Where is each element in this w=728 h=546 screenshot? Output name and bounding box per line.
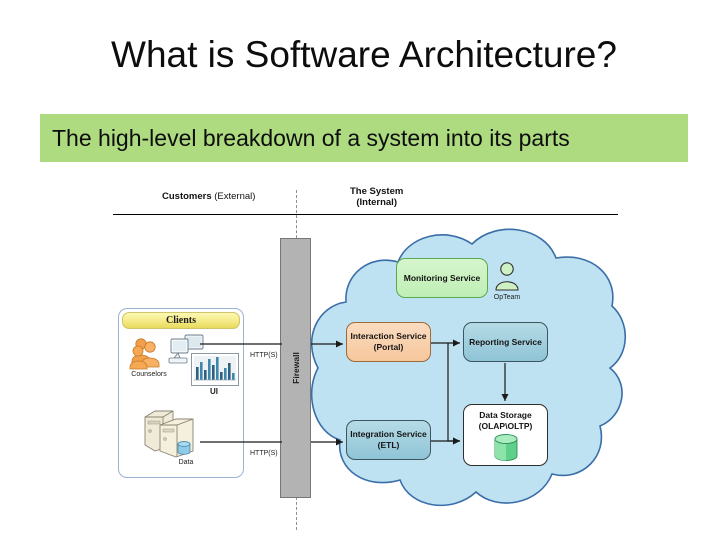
op-team-icon <box>494 260 520 294</box>
zone-label-internal: The System (Internal) <box>350 186 403 208</box>
clients-header-label: Clients <box>166 315 196 326</box>
http-label-top: HTTP(S) <box>250 352 278 359</box>
firewall-bar: Firewall <box>280 238 311 498</box>
database-cylinder-icon <box>491 434 521 462</box>
service-reporting[interactable]: Reporting Service <box>463 322 548 362</box>
clients-header: Clients <box>122 312 240 329</box>
ui-chart-icon <box>191 353 239 386</box>
clients-container: Clients Counselors <box>118 308 244 478</box>
service-interaction-line2: (Portal) <box>350 342 426 353</box>
service-monitoring[interactable]: Monitoring Service <box>396 258 488 298</box>
service-interaction-line1: Interaction Service <box>350 331 426 342</box>
ui-label: UI <box>199 387 229 396</box>
firewall-label: Firewall <box>291 352 301 384</box>
counselors-icon <box>129 337 169 371</box>
data-storage-line1: Data Storage <box>479 410 531 421</box>
page-title: What is Software Architecture? <box>0 34 728 76</box>
service-integration-line2: (ETL) <box>350 440 427 451</box>
data-label: Data <box>171 459 201 466</box>
zone-label-internal-line1: The System <box>350 186 403 197</box>
http-label-bottom: HTTP(S) <box>250 450 278 457</box>
service-data-storage[interactable]: Data Storage (OLAP\OLTP) <box>463 404 548 466</box>
service-monitoring-label: Monitoring Service <box>404 273 481 284</box>
zone-label-internal-line2: (Internal) <box>350 197 403 208</box>
subtitle-banner: The high-level breakdown of a system int… <box>40 114 688 162</box>
zone-label-external-rest: (External) <box>212 191 256 202</box>
zone-label-external: Customers (External) <box>162 191 255 202</box>
service-integration-line1: Integration Service <box>350 429 427 440</box>
zone-label-external-bold: Customers <box>162 191 212 202</box>
subtitle-text: The high-level breakdown of a system int… <box>52 125 570 152</box>
service-interaction[interactable]: Interaction Service (Portal) <box>346 322 431 362</box>
data-storage-line2: (OLAP\OLTP) <box>479 421 533 432</box>
architecture-diagram: Customers (External) The System (Interna… <box>100 182 628 534</box>
service-integration[interactable]: Integration Service (ETL) <box>346 420 431 460</box>
op-team-label: OpTeam <box>488 294 526 301</box>
zone-divider-horizontal <box>113 214 618 215</box>
data-servers-icon <box>141 405 199 461</box>
service-reporting-label: Reporting Service <box>469 337 542 348</box>
counselors-label: Counselors <box>123 371 175 378</box>
